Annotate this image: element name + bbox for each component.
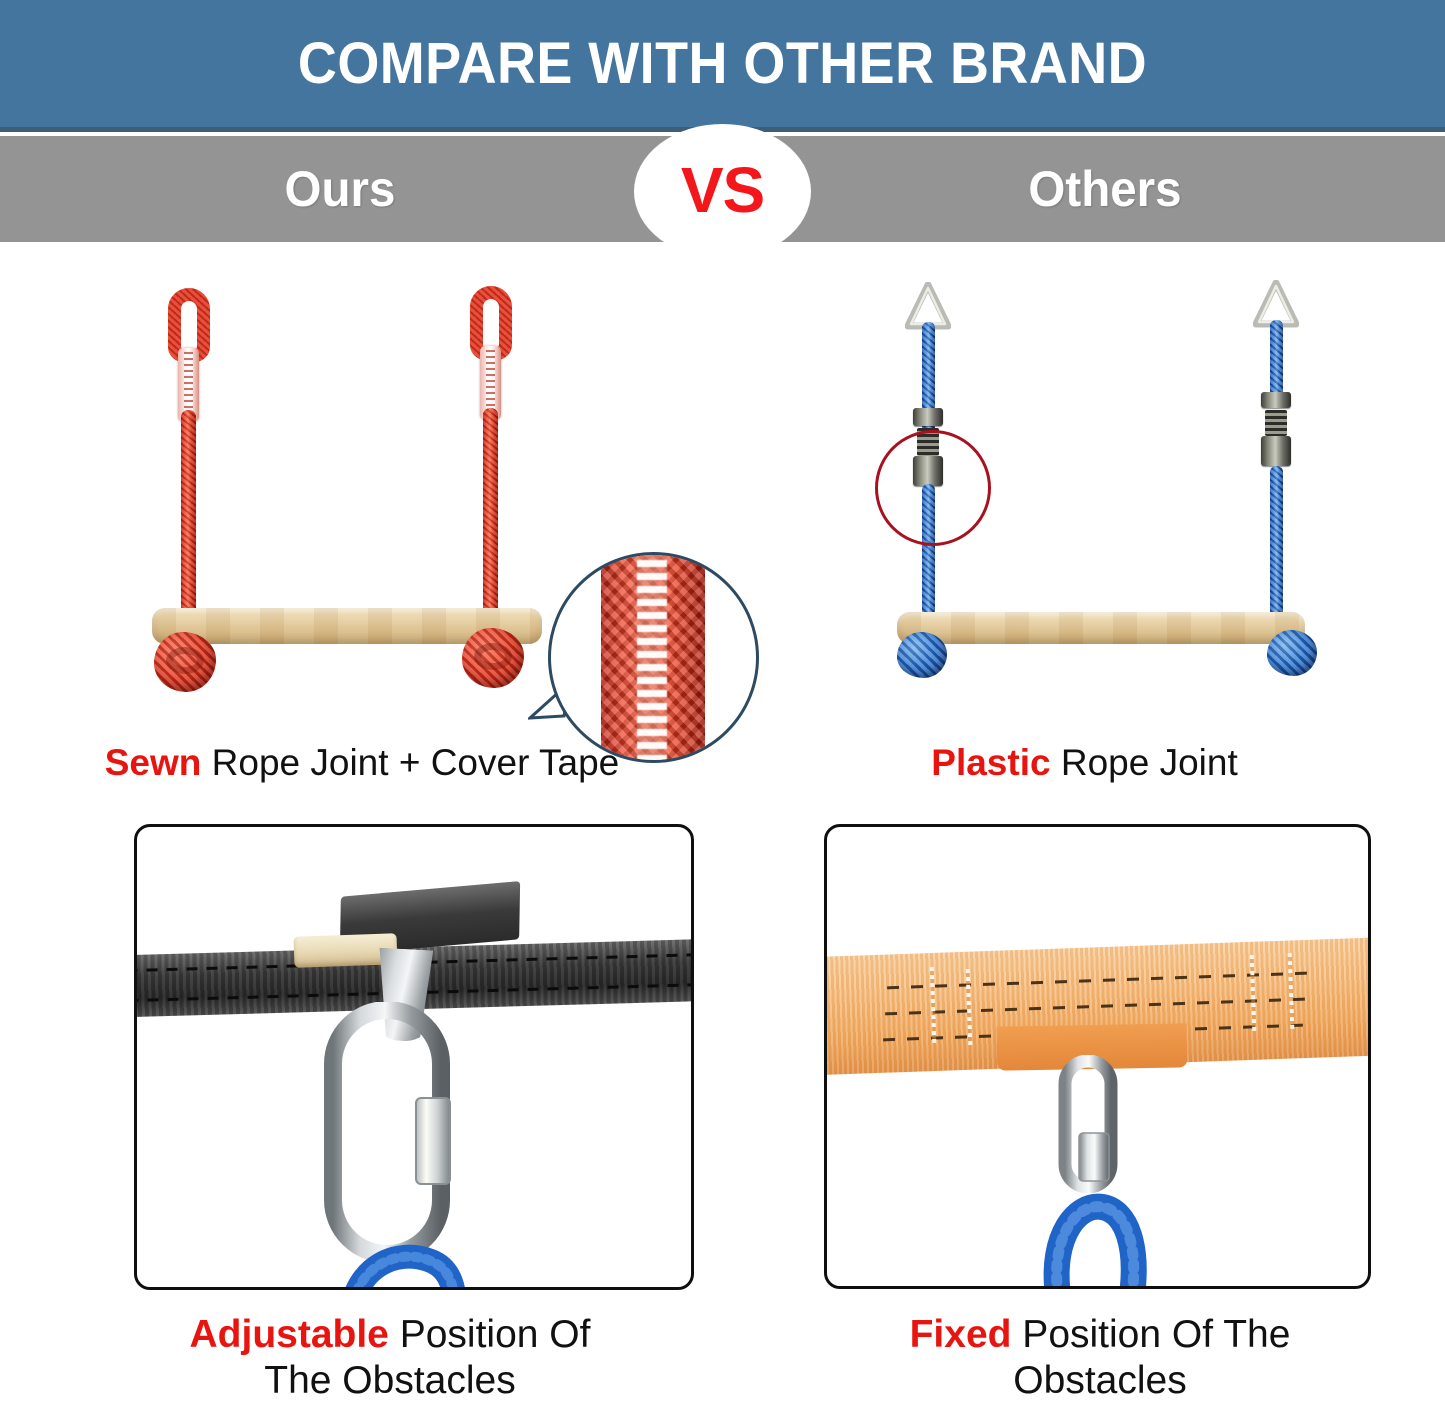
wooden-bar-others [897,612,1305,644]
caption-highlight: Adjustable [190,1313,389,1356]
vs-badge: VS [634,124,811,259]
caption-rest: Position Of [389,1313,591,1356]
rope-knot-right-blue [1267,630,1317,676]
caption-rest: Rope Joint [1051,742,1238,783]
rope-strand-right [483,408,498,636]
rope-strand-left [181,410,196,635]
caption-line-2: Obstacles [780,1358,1420,1404]
plastic-rope-clamp-right [1261,392,1291,470]
rope-knot-left [154,632,216,692]
magnifier-callout-sewn-joint [548,552,759,763]
blue-rope-loop [1032,1157,1152,1289]
caption-line-1: Adjustable Position Of [60,1312,720,1358]
ours-detail-panel-adjustable [134,824,694,1290]
rope-knot-right [462,628,524,688]
caption-others-fixed: Fixed Position Of The Obstacles [780,1312,1420,1404]
caption-rest: Rope Joint + Cover Tape [201,742,619,783]
product-comparison-row-1 [0,250,1445,730]
caption-rest: Position Of The [1011,1313,1290,1356]
caption-others-rope-joint: Plastic Rope Joint [724,742,1445,784]
caption-highlight: Plastic [931,742,1050,783]
caption-highlight: Fixed [910,1313,1012,1356]
caption-line-2: The Obstacles [60,1358,720,1404]
rope-knot-left-blue [897,632,947,678]
rope-strand-right-blue [1270,320,1283,398]
caption-line-1: Fixed Position Of The [780,1312,1420,1358]
vs-label: VS [681,158,764,222]
comparison-infographic: COMPARE WITH OTHER BRAND Ours Others VS [0,0,1445,1407]
caption-highlight: Sewn [105,742,202,783]
red-circle-annotation [875,430,991,546]
page-title: COMPARE WITH OTHER BRAND [51,0,1395,127]
others-detail-panel-fixed [824,824,1371,1289]
caption-ours-adjustable: Adjustable Position Of The Obstacles [60,1312,720,1404]
rope-strand-right-blue-lower [1270,466,1283,618]
blue-rope-through-carabiner [333,1227,473,1290]
column-header-others: Others [782,136,1428,242]
column-header-ours: Ours [17,136,663,242]
magnified-white-stitching [637,552,667,763]
ours-product-image-rope-trapeze [130,270,590,710]
